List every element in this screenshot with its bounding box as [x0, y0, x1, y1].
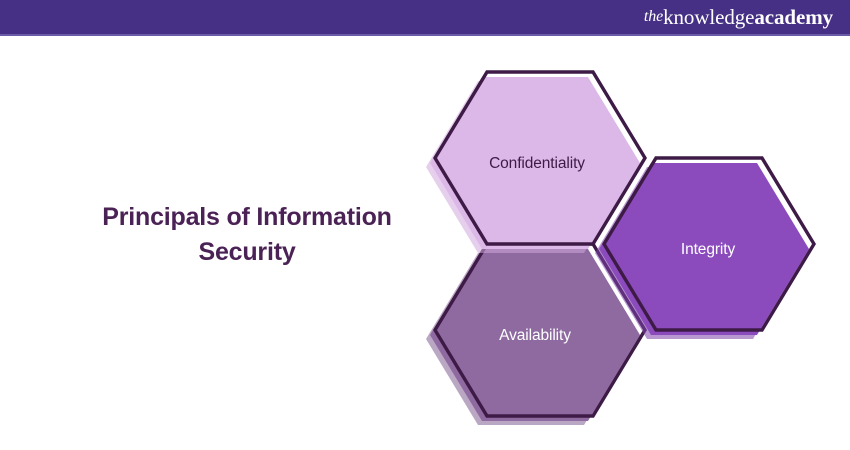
header-accent-divider	[0, 34, 850, 36]
hexagon-availability-label: Availability	[499, 327, 571, 344]
hexagon-confidentiality-label: Confidentiality	[489, 155, 585, 172]
brand-logo-the: the	[644, 8, 663, 26]
page-title-line-1: Principals of Information	[42, 200, 452, 235]
brand-logo-academy: academy	[754, 5, 833, 30]
brand-logo[interactable]: theknowledgeacademy	[644, 0, 833, 34]
hexagon-diagram-svg: Availability Integrity Confidentiality	[420, 55, 820, 435]
page-title-line-2: Security	[42, 235, 452, 270]
page-title: Principals of Information Security	[42, 200, 452, 269]
hexagon-integrity-label: Integrity	[681, 241, 736, 258]
brand-logo-knowledge: knowledge	[663, 5, 754, 30]
infographic-canvas: theknowledgeacademy Principals of Inform…	[0, 0, 850, 450]
hexagon-diagram: Availability Integrity Confidentiality	[420, 55, 820, 435]
